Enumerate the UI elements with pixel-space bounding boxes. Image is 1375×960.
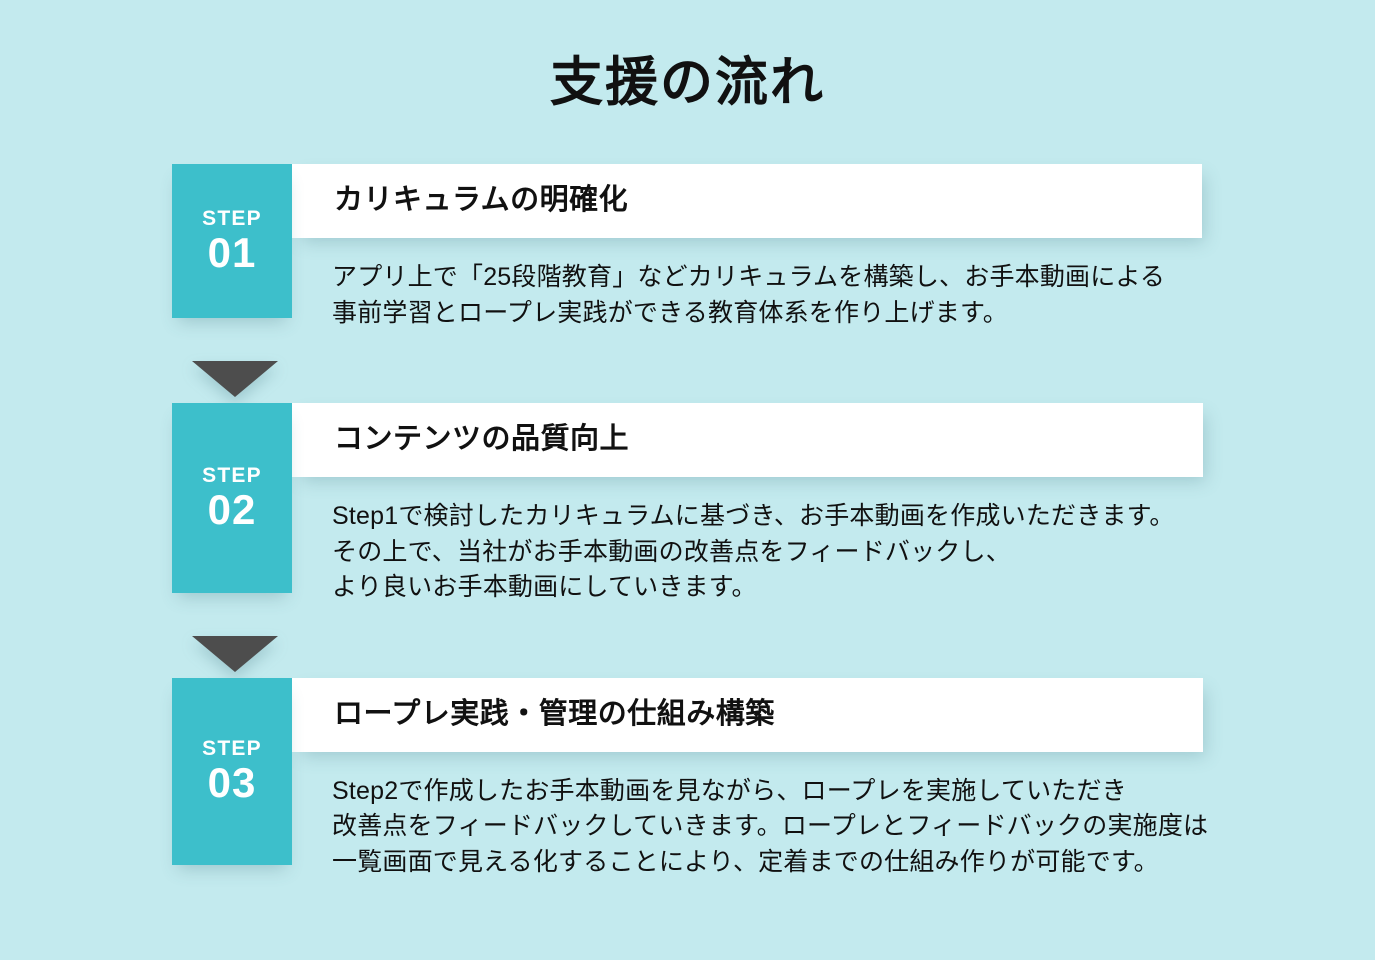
step-badge-word-02: STEP (202, 465, 262, 486)
step-row-02: STEP 02 コンテンツの品質向上 Step1で検討したカリキュラムに基づき、… (172, 403, 1232, 624)
step-heading-bar-02: コンテンツの品質向上 (292, 403, 1203, 477)
step-body-03: Step2で作成したお手本動画を見ながら、ロープレを実施していただき 改善点をフ… (292, 752, 1232, 899)
step-body-line: 事前学習とロープレ実践ができる教育体系を作り上げます。 (332, 296, 1232, 332)
step-badge-word-01: STEP (202, 208, 262, 229)
step-body-line: その上で、当社がお手本動画の改善点をフィードバックし、 (332, 535, 1232, 571)
step-badge-03: STEP 03 (172, 678, 292, 865)
step-item-02: STEP 02 コンテンツの品質向上 Step1で検討したカリキュラムに基づき、… (172, 403, 1232, 624)
step-body-line: 一覧画面で見える化することにより、定着までの仕組み作りが可能です。 (332, 845, 1232, 881)
step-heading-02: コンテンツの品質向上 (292, 424, 629, 456)
step-badge-word-03: STEP (202, 738, 262, 759)
down-arrow-icon (192, 636, 278, 672)
step-body-02: Step1で検討したカリキュラムに基づき、お手本動画を作成いただきます。 その上… (292, 477, 1232, 624)
step-body-line: より良いお手本動画にしていきます。 (332, 570, 1232, 606)
step-body-line: アプリ上で「25段階教育」などカリキュラムを構築し、お手本動画による (332, 260, 1232, 296)
step-item-03: STEP 03 ロープレ実践・管理の仕組み構築 Step2で作成したお手本動画を… (172, 678, 1232, 899)
step-body-line: 改善点をフィードバックしていきます。ロープレとフィードバックの実施度は (332, 809, 1232, 845)
step-heading-03: ロープレ実践・管理の仕組み構築 (292, 699, 775, 731)
arrow-step2-to-step3 (172, 624, 1232, 678)
step-badge-number-03: 03 (208, 762, 257, 804)
step-heading-bar-03: ロープレ実践・管理の仕組み構築 (292, 678, 1203, 752)
step-badge-02: STEP 02 (172, 403, 292, 593)
step-body-01: アプリ上で「25段階教育」などカリキュラムを構築し、お手本動画による 事前学習と… (292, 238, 1232, 349)
arrow-step1-to-step2 (172, 349, 1232, 403)
step-badge-number-01: 01 (208, 232, 257, 274)
step-row-01: STEP 01 カリキュラムの明確化 アプリ上で「25段階教育」などカリキュラム… (172, 164, 1232, 349)
down-arrow-icon (192, 361, 278, 397)
step-badge-01: STEP 01 (172, 164, 292, 318)
step-badge-number-02: 02 (208, 489, 257, 531)
step-body-line: Step2で作成したお手本動画を見ながら、ロープレを実施していただき (332, 774, 1232, 810)
steps-list: STEP 01 カリキュラムの明確化 アプリ上で「25段階教育」などカリキュラム… (172, 164, 1232, 898)
flow-diagram-page: 支援の流れ STEP 01 カリキュラムの明確化 アプリ上で「25段階教育」など… (0, 0, 1375, 960)
page-title: 支援の流れ (0, 54, 1375, 112)
step-heading-bar-01: カリキュラムの明確化 (292, 164, 1202, 238)
step-heading-01: カリキュラムの明確化 (292, 185, 628, 217)
step-row-03: STEP 03 ロープレ実践・管理の仕組み構築 Step2で作成したお手本動画を… (172, 678, 1232, 899)
step-item-01: STEP 01 カリキュラムの明確化 アプリ上で「25段階教育」などカリキュラム… (172, 164, 1232, 349)
step-body-line: Step1で検討したカリキュラムに基づき、お手本動画を作成いただきます。 (332, 499, 1232, 535)
